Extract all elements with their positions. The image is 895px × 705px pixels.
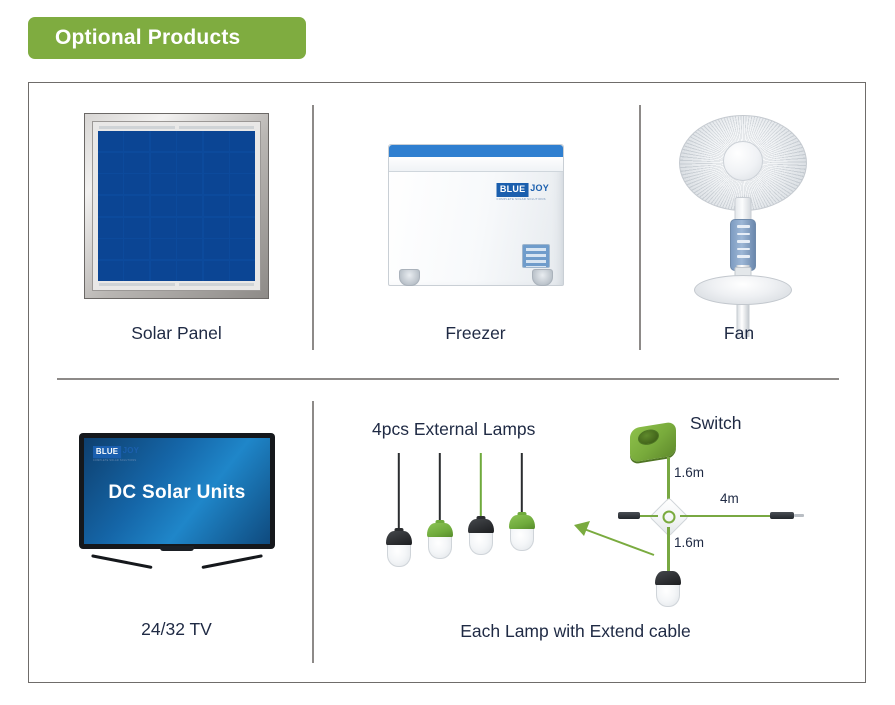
wire-hub-to-connector [680,515,774,518]
switch-title: Switch [690,413,742,434]
solar-panel-cell [98,131,123,151]
lamp-bulb [387,545,411,567]
solar-panel-illustration [84,113,269,299]
solar-panel-cell [230,239,255,259]
lamp-cord [480,453,482,519]
solar-panel-cell [177,261,202,281]
solar-panel-cell [151,261,176,281]
bluejoy-logo-row: BLUE JOY [93,446,139,458]
solar-panel-cell [204,261,229,281]
tv-stand-neck [160,546,194,551]
lamp-cord [398,453,400,531]
connector-plug-left [618,512,640,519]
solar-panel-busbar-top [99,126,254,129]
lamp-cord [439,453,441,523]
section-header-banner: Optional Products [28,17,306,59]
external-lamp [382,453,416,571]
lamps-caption: Each Lamp with Extend cable [312,621,839,642]
solar-panel-cell-grid [98,131,255,281]
bluejoy-logo-primary: BLUE [93,446,121,458]
diagram-lamp-bulb [656,585,680,607]
tv-leg-right [201,554,262,569]
solar-panel-cell [98,196,123,216]
solar-panel-cell [177,174,202,194]
freezer-lid-face [389,155,563,172]
freezer-illustration: BLUE JOY COMPLETE SOLAR SOLUTIONS [384,130,568,298]
bluejoy-logo-primary: BLUE [496,183,528,197]
solar-panel-cell [230,196,255,216]
solar-panel-cell [98,239,123,259]
tv-screen: BLUE JOY COMPLETE SOLAR SOLUTIONS DC Sol… [84,438,270,544]
bluejoy-logo-secondary: JOY [121,446,139,458]
solar-panel-cell [151,239,176,259]
bluejoy-logo-tagline: COMPLETE SOLAR SOLUTIONS [496,198,549,201]
tv-brand-logo: BLUE JOY COMPLETE SOLAR SOLUTIONS [93,446,139,462]
solar-panel-cell [177,153,202,173]
solar-panel-cell [98,261,123,281]
solar-panel-cell [124,218,149,238]
diagram-lamp [651,571,685,615]
solar-panel-cell [124,131,149,151]
solar-panel-cell [204,131,229,151]
fan-control-housing[interactable] [730,219,756,271]
solar-panel-cell [177,131,202,151]
lamp-bulb [510,529,534,551]
tv-bezel: BLUE JOY COMPLETE SOLAR SOLUTIONS DC Sol… [79,433,275,549]
solar-panel-cell [151,218,176,238]
freezer-control-panel[interactable] [522,244,550,268]
bluejoy-logo: BLUE JOY COMPLETE SOLAR SOLUTIONS [496,183,549,201]
switch-button-icon[interactable] [638,428,659,446]
product-label-solar-panel: Solar Panel [41,323,312,344]
lamp-cord [521,453,523,515]
measurement-hub-to-lamp: 1.6m [674,535,704,550]
solar-panel-cell [98,174,123,194]
measurement-switch-to-hub: 1.6m [674,465,704,480]
product-cell-solar-panel[interactable]: Solar Panel [41,105,312,355]
freezer-wheel-left [399,269,420,286]
bluejoy-logo-secondary: JOY [529,183,549,197]
external-lamp [505,453,539,555]
wire-hub-to-lamp [667,527,670,575]
solar-panel-cell [204,239,229,259]
product-cell-fan[interactable]: Fan [639,105,839,355]
lamp-bulb [428,537,452,559]
product-label-freezer: Freezer [312,323,639,344]
product-cell-tv[interactable]: BLUE JOY COMPLETE SOLAR SOLUTIONS DC Sol… [41,401,312,663]
solar-panel-cell [230,131,255,151]
external-lamp [464,453,498,559]
solar-panel-cell [204,153,229,173]
product-label-fan: Fan [639,323,839,344]
product-cell-freezer[interactable]: BLUE JOY COMPLETE SOLAR SOLUTIONS Freeze… [312,105,639,355]
tv-illustration: BLUE JOY COMPLETE SOLAR SOLUTIONS DC Sol… [79,433,275,569]
solar-panel-cell [204,196,229,216]
freezer-wheel-right [532,269,553,286]
solar-panel-cell [177,218,202,238]
fan-illustration [673,115,813,305]
freezer-lid-stripe [389,153,563,157]
freezer-brand-logo: BLUE JOY COMPLETE SOLAR SOLUTIONS [496,183,549,201]
lamps-title: 4pcs External Lamps [372,419,535,440]
solar-panel-cell [230,218,255,238]
external-lamps-group [382,453,562,563]
connector-plug-tip [794,514,804,517]
solar-panel-cell [98,153,123,173]
optional-products-card: Solar Panel BLUE JOY COMPLETE SOLAR SOLU… [28,82,866,683]
bluejoy-logo-row: BLUE JOY [496,183,549,197]
solar-panel-cell [177,196,202,216]
solar-panel-inner [92,121,261,291]
solar-panel-cell [204,218,229,238]
solar-panel-cell [124,196,149,216]
freezer-body: BLUE JOY COMPLETE SOLAR SOLUTIONS [388,144,564,286]
solar-panel-frame [84,113,269,299]
switch-wiring-diagram: Switch 1.6m 4m 1.6m [612,409,832,609]
solar-panel-cell [124,261,149,281]
product-cell-lamps-switch[interactable]: 4pcs External Lamps Switch 1.6m [312,401,839,663]
solar-panel-cell [177,239,202,259]
solar-panel-cell [98,218,123,238]
solar-panel-cell [151,153,176,173]
page-title: Optional Products [55,26,240,50]
solar-panel-cell [124,174,149,194]
bluejoy-logo-tagline: COMPLETE SOLAR SOLUTIONS [93,459,139,461]
tv-screen-text: DC Solar Units [84,482,270,504]
divider-horizontal [57,378,839,380]
solar-panel-cell [151,196,176,216]
bluejoy-logo: BLUE JOY COMPLETE SOLAR SOLUTIONS [93,446,139,462]
solar-panel-busbar-bottom [99,283,254,286]
wire-hub-left [638,515,658,518]
fan-hub [723,141,763,181]
solar-panel-cell [151,174,176,194]
solar-panel-cell [230,174,255,194]
lamp-bulb [469,533,493,555]
external-lamp [423,453,457,563]
hub-indicator-icon [663,511,676,524]
tv-leg-left [91,554,152,569]
product-label-tv: 24/32 TV [41,619,312,640]
fan-base [694,275,792,305]
solar-panel-cell [151,131,176,151]
solar-panel-cell [124,239,149,259]
connector-plug-right [770,512,794,519]
measurement-hub-to-connector: 4m [720,491,739,506]
solar-panel-cell [204,174,229,194]
solar-panel-cell [124,153,149,173]
solar-panel-cell [230,153,255,173]
solar-panel-cell [230,261,255,281]
